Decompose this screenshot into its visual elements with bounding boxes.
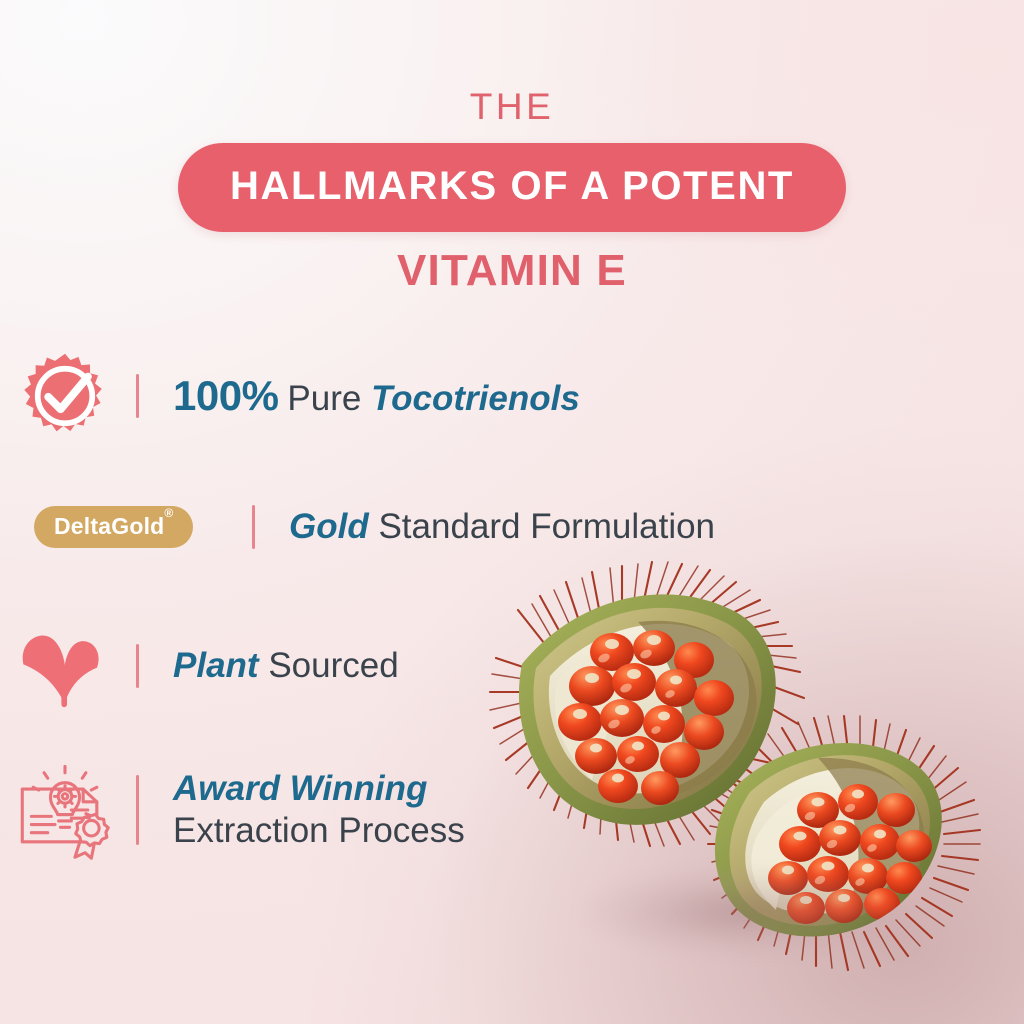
feature-label-4: Award Winning	[173, 768, 465, 809]
pod-drop-shadow	[528, 852, 958, 972]
feature-row-deltagold: DeltaGold® Gold Standard Formulation	[0, 487, 715, 567]
feature-middle-3: Sourced	[268, 646, 398, 685]
pod-bristles-bottom	[708, 716, 980, 970]
annatto-pod-photo	[488, 552, 988, 972]
check-badge-icon	[21, 352, 109, 440]
feature-emphasis-2: Gold	[289, 507, 369, 546]
icon-cell-2: DeltaGold®	[0, 506, 252, 548]
feature-label-3: Plant Sourced	[173, 645, 399, 686]
feature-text-2: Gold Standard Formulation	[255, 506, 715, 547]
feature-row-tocotrienols: 100%Pure Tocotrienols	[0, 350, 580, 442]
feature-italic-1: Tocotrienols	[371, 379, 580, 418]
feature-middle-1: Pure	[287, 379, 361, 418]
headline-banner: HALLMARKS OF A POTENT	[178, 143, 846, 232]
pod-half-top	[519, 594, 776, 825]
feature-text-4: Award Winning Extraction Process	[139, 768, 465, 851]
pod-half-bottom	[715, 743, 942, 936]
promo-graphic-canvas: THE HALLMARKS OF A POTENT VITAMIN E 100%…	[0, 0, 1024, 1024]
deltagold-label: DeltaGold	[54, 513, 164, 539]
seed-cluster-bottom	[768, 784, 932, 924]
feature-middle-2: Standard Formulation	[378, 507, 715, 546]
header-block: THE HALLMARKS OF A POTENT VITAMIN E	[0, 88, 1024, 293]
feature-text-1: 100%Pure Tocotrienols	[139, 371, 580, 421]
feature-row-plant: Plant Sourced	[0, 620, 399, 712]
registered-mark: ®	[164, 506, 173, 520]
eyebrow-text: THE	[0, 88, 1024, 125]
pod-bristles-top	[490, 562, 804, 846]
award-certificate-icon	[15, 760, 115, 860]
plant-leaf-icon	[17, 624, 113, 708]
headline-pill-wrap: HALLMARKS OF A POTENT	[0, 143, 1024, 232]
icon-cell-3	[0, 624, 130, 708]
annatto-pod-illustration	[488, 552, 988, 972]
icon-cell-4	[0, 760, 130, 860]
feature-emphasis-4: Award Winning	[173, 769, 427, 808]
feature-emphasis-1: 100%	[173, 372, 278, 419]
feature-row-award: Award Winning Extraction Process	[0, 755, 465, 865]
feature-emphasis-3: Plant	[173, 646, 259, 685]
feature-label-1: 100%Pure Tocotrienols	[173, 371, 580, 421]
feature-subline-4: Extraction Process	[173, 810, 465, 852]
subject-title: VITAMIN E	[0, 249, 1024, 293]
feature-text-3: Plant Sourced	[139, 645, 399, 686]
seed-cluster-top	[558, 630, 734, 805]
deltagold-badge: DeltaGold®	[34, 506, 193, 548]
icon-cell-1	[0, 352, 130, 440]
feature-label-2: Gold Standard Formulation	[289, 506, 715, 547]
